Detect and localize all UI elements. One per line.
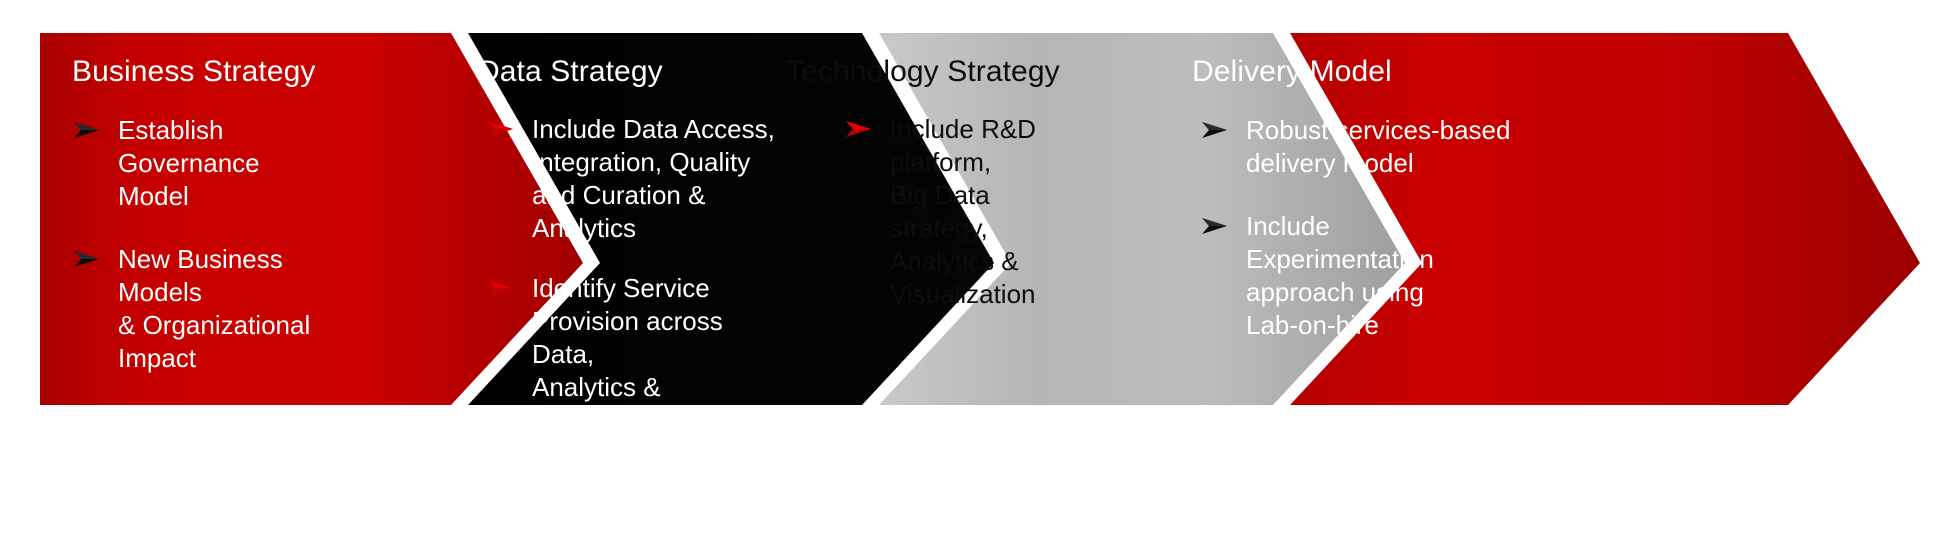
arrow-bullet-icon — [486, 116, 516, 142]
list-item-label: Include R&D platform, Big Data strategy,… — [890, 113, 1086, 311]
list-item[interactable]: New Business Models & Organizational Imp… — [72, 243, 372, 375]
list-item[interactable]: Include Experimentation approach using L… — [1200, 210, 1522, 342]
bullet-list-delivery-model: Robust services-based delivery model Inc… — [1200, 114, 1522, 342]
list-item[interactable]: Robust services-based delivery model — [1200, 114, 1522, 180]
stage-delivery-model[interactable]: Delivery Model Robust services-based del… — [1192, 55, 1522, 372]
bullet-list-data-strategy: Include Data Access, Integration, Qualit… — [486, 113, 778, 437]
list-item-label: Establish Governance Model — [118, 114, 372, 213]
arrow-bullet-icon — [72, 117, 102, 143]
stage-data-strategy[interactable]: Data Strategy Include Data Access, Integ… — [478, 55, 778, 464]
list-item-label: Include Data Access, Integration, Qualit… — [532, 113, 778, 245]
stage-title-data-strategy: Data Strategy — [478, 55, 778, 88]
arrow-bullet-icon — [72, 246, 102, 272]
list-item[interactable]: Include R&D platform, Big Data strategy,… — [844, 113, 1086, 311]
stage-title-technology-strategy: Technology Strategy — [786, 55, 1086, 88]
list-item-label: New Business Models & Organizational Imp… — [118, 243, 372, 375]
bullet-list-business-strategy: Establish Governance Model New Business … — [72, 114, 372, 375]
list-item-label: Include Experimentation approach using L… — [1246, 210, 1522, 342]
list-item[interactable]: Identify Service Provision across Data, … — [486, 272, 778, 437]
arrow-bullet-icon — [486, 275, 516, 301]
arrow-bullet-icon — [844, 116, 874, 142]
stage-title-business-strategy: Business Strategy — [72, 55, 372, 88]
stage-technology-strategy[interactable]: Technology Strategy Include R&D platform… — [786, 55, 1086, 338]
chevron-process-diagram: Business Strategy Establish Governance M… — [0, 0, 1956, 538]
arrow-bullet-icon — [1200, 213, 1230, 239]
list-item[interactable]: Include Data Access, Integration, Qualit… — [486, 113, 778, 245]
arrow-bullet-icon — [1200, 117, 1230, 143]
list-item[interactable]: Establish Governance Model — [72, 114, 372, 213]
stage-business-strategy[interactable]: Business Strategy Establish Governance M… — [72, 55, 372, 405]
list-item-label: Identify Service Provision across Data, … — [532, 272, 778, 437]
bullet-list-technology-strategy: Include R&D platform, Big Data strategy,… — [844, 113, 1086, 311]
list-item-label: Robust services-based delivery model — [1246, 114, 1522, 180]
stage-title-delivery-model: Delivery Model — [1192, 55, 1522, 88]
